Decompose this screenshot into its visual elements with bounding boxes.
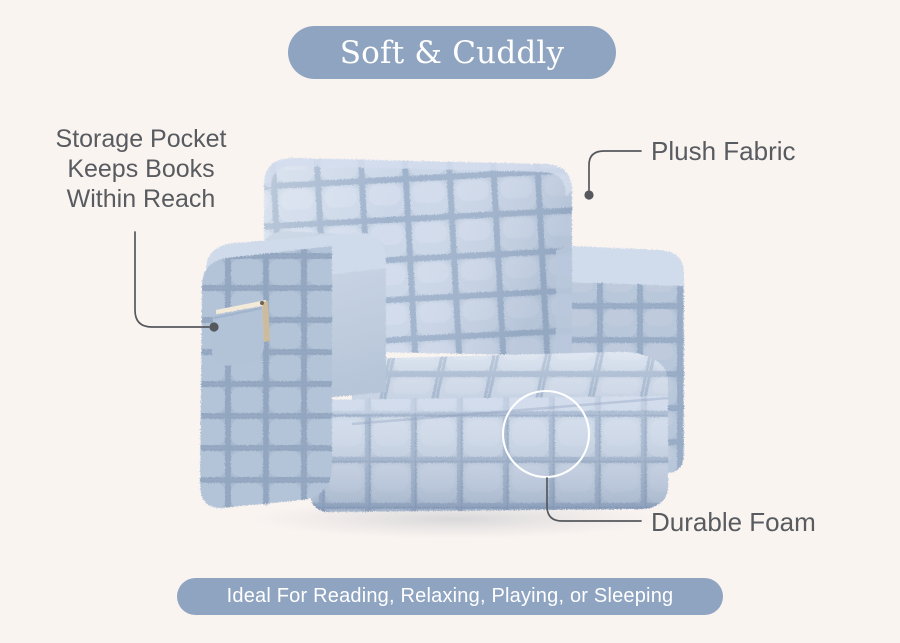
annotation-storage-pocket: Storage Pocket Keeps Books Within Reach (30, 124, 252, 214)
header-badge: Soft & Cuddly (288, 26, 616, 79)
annotation-durable-foam: Durable Foam (651, 506, 816, 538)
footer-badge: Ideal For Reading, Relaxing, Playing, or… (177, 578, 723, 615)
infographic-canvas: Soft & Cuddly Storage Pocket Keeps Books… (0, 0, 900, 643)
product-image (0, 0, 900, 643)
annotation-plush-fabric: Plush Fabric (651, 135, 796, 167)
